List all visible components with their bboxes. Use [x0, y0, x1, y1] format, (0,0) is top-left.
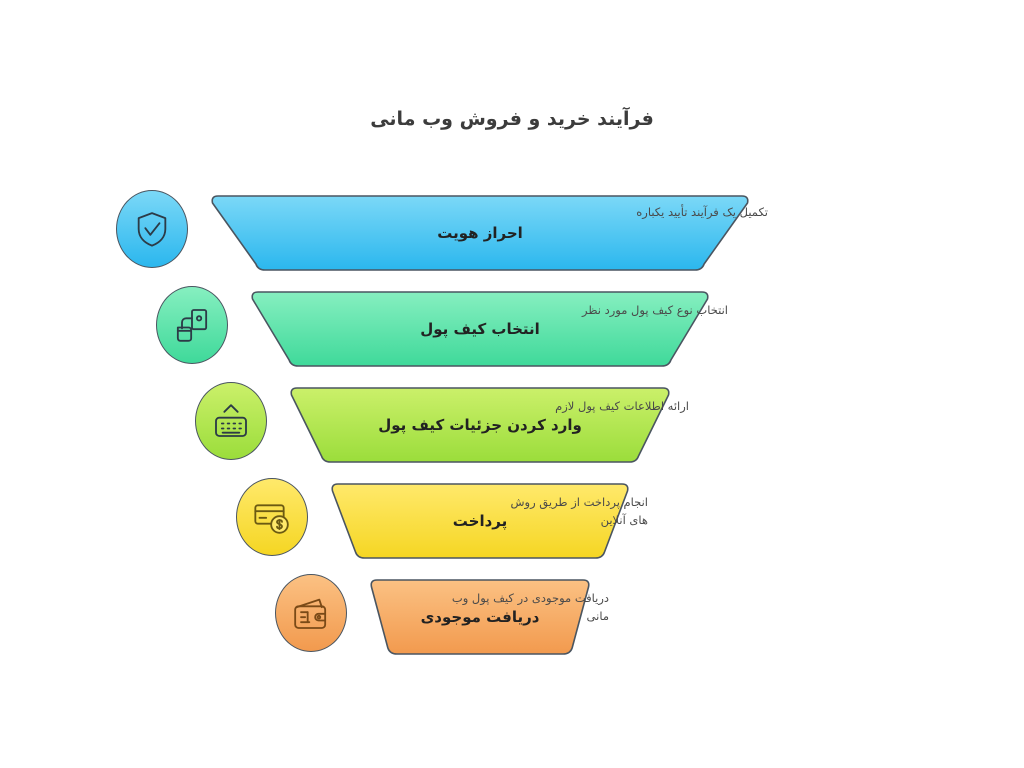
funnel-stage-label: انتخاب کیف پول — [420, 320, 540, 338]
funnel-stage-label: وارد کردن جزئیات کیف پول — [378, 416, 582, 434]
funnel-stage-label: احراز هویت — [437, 224, 523, 242]
page-title: فرآیند خرید و فروش وب مانی — [0, 108, 1024, 130]
funnel-stage-3[interactable]: وارد کردن جزئیات کیف پولارائه اطلاعات کی… — [0, 382, 1024, 468]
funnel-stage-4[interactable]: پرداختانجام پرداخت از طریق روش های آنلای… — [0, 478, 1024, 564]
funnel-diagram: فرآیند خرید و فروش وب مانی احراز هویتتکم… — [0, 0, 1024, 768]
funnel-stage-description: انتخاب نوع کیف پول مورد نظر — [558, 302, 728, 320]
hand-money-icon — [156, 286, 228, 364]
wallet-icon — [275, 574, 347, 652]
keyboard-icon — [195, 382, 267, 460]
funnel-stage-label: دریافت موجودی — [421, 608, 540, 626]
funnel-stage-2[interactable]: انتخاب کیف پولانتخاب نوع کیف پول مورد نظ… — [0, 286, 1024, 372]
funnel-stage-description: ارائه اطلاعات کیف پول لازم — [519, 398, 689, 416]
funnel-stage-5[interactable]: دریافت موجودیدریافت موجودی در کیف پول وب… — [0, 574, 1024, 660]
funnel-stage-1[interactable]: احراز هویتتکمیل یک فرآیند تأیید یکباره — [0, 190, 1024, 276]
shield-check-icon — [116, 190, 188, 268]
funnel-stage-description: تکمیل یک فرآیند تأیید یکباره — [598, 204, 768, 222]
credit-card-dollar-icon — [236, 478, 308, 556]
funnel-stage-label: پرداخت — [453, 512, 508, 530]
